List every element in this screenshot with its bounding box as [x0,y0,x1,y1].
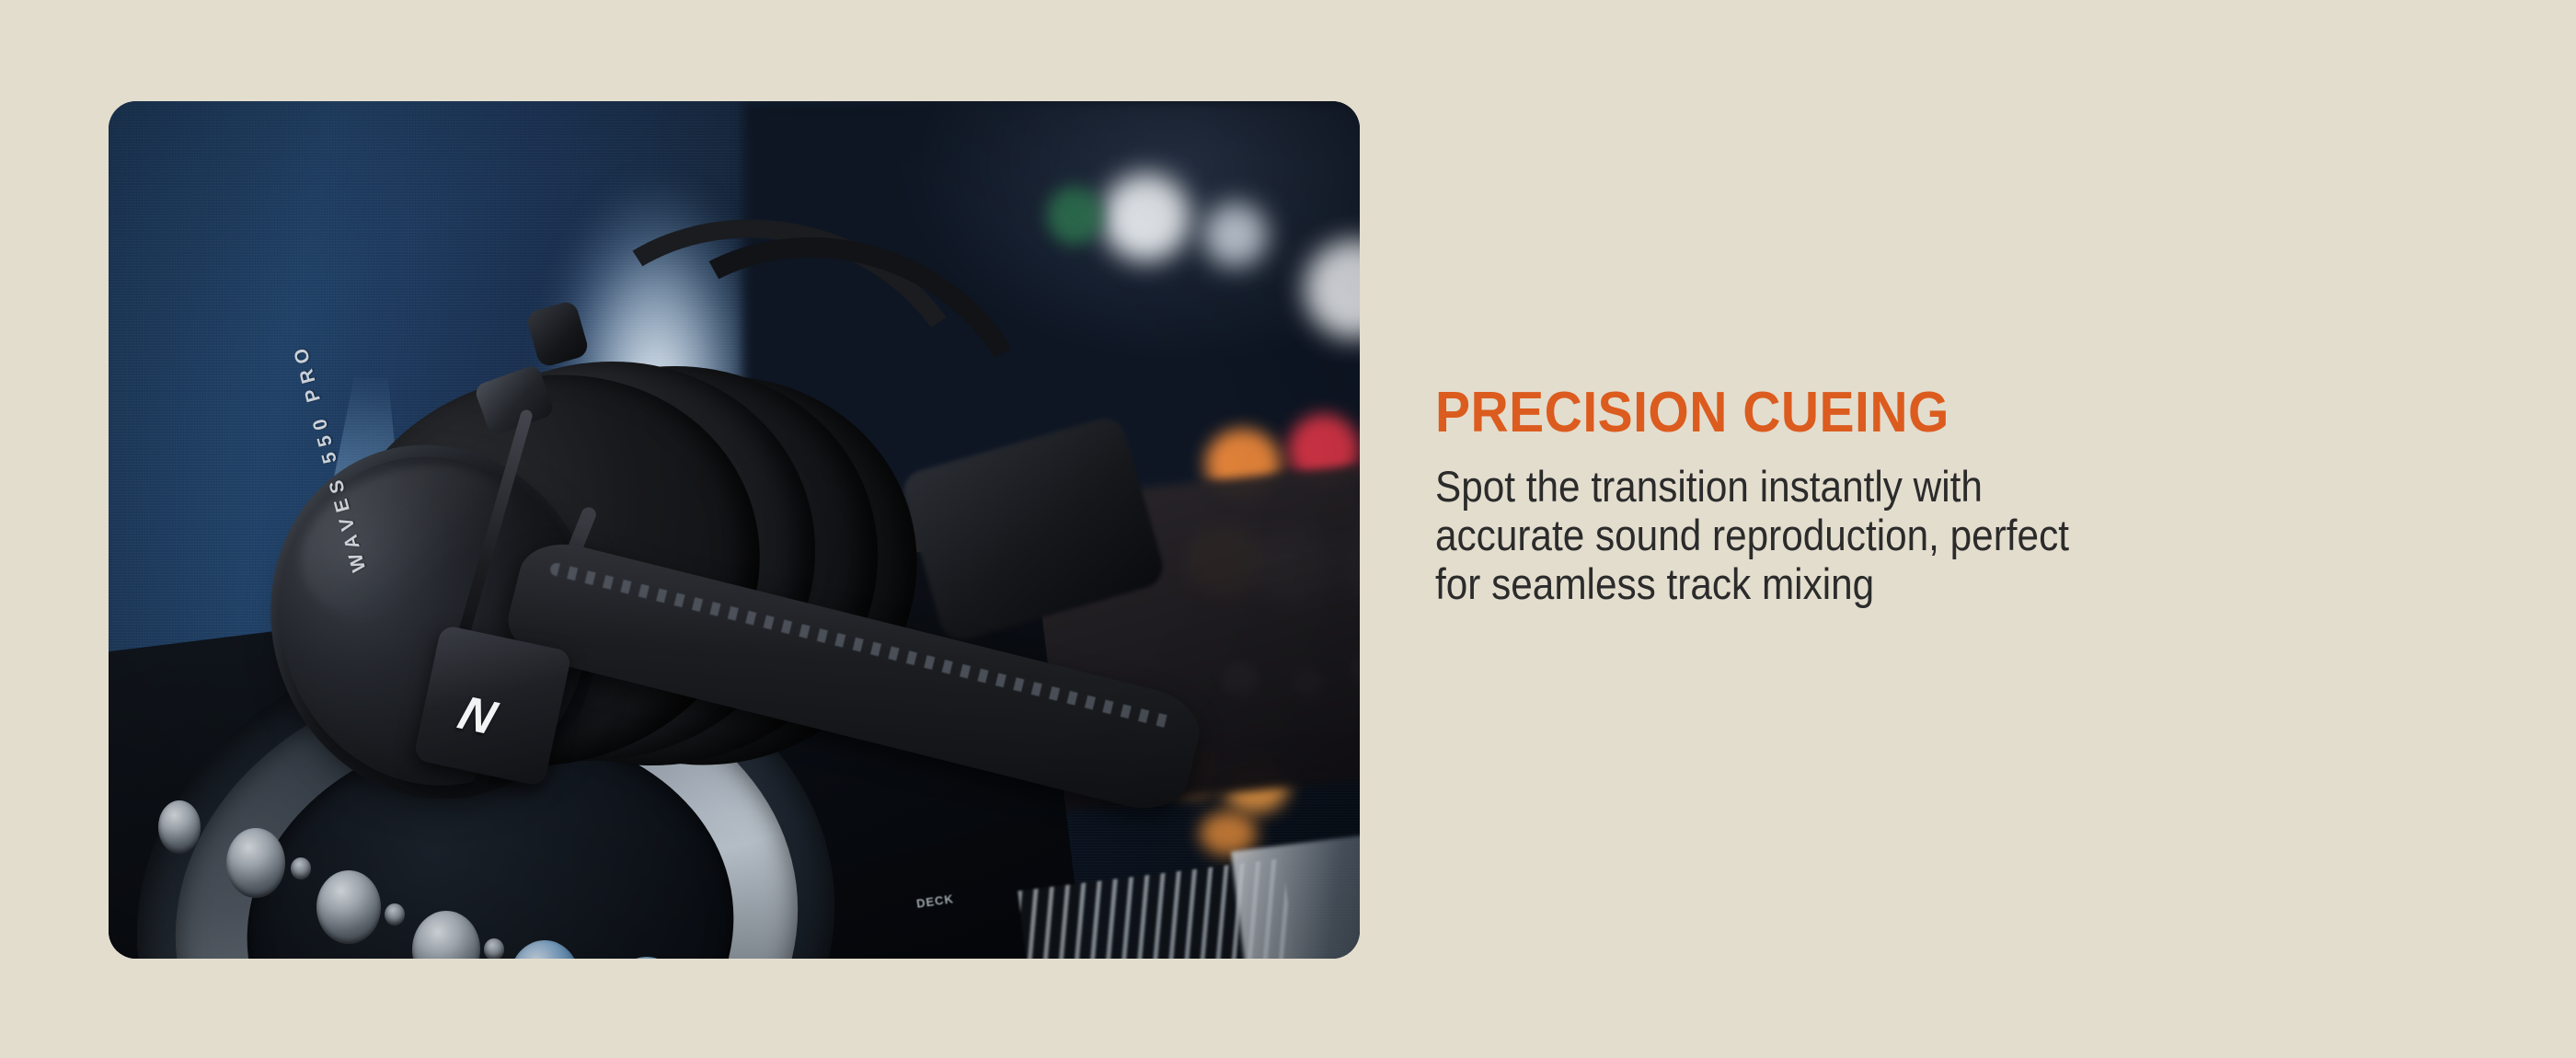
bokeh-light-white-1 [1102,173,1190,261]
jog-wheel-dimple [226,828,285,898]
jog-wheel-dimple [316,870,381,944]
bokeh-light-white-2 [1203,202,1268,267]
jog-wheel-dimple [484,938,504,959]
jog-wheel-dimple [291,857,311,880]
product-photo-card: WAVES 550 PRO N DECK CUE TIME TRACK [109,101,1360,959]
feature-description-line: for seamless track mixing [1435,559,2346,608]
product-photo: WAVES 550 PRO N DECK CUE TIME TRACK [109,101,1360,959]
feature-banner: WAVES 550 PRO N DECK CUE TIME TRACK PREC… [0,0,2576,1058]
jog-wheel-dimple [385,903,405,926]
feature-heading: PRECISION CUEING [1435,385,2366,442]
feature-description-line: Spot the transition instantly with [1435,462,2346,511]
bokeh-light-green [1047,186,1102,245]
feature-description-line: accurate sound reproduction, perfect [1435,511,2346,559]
jog-wheel-dimple [158,800,201,854]
feature-text-block: PRECISION CUEING Spot the transition ins… [1435,385,2447,608]
feature-description: Spot the transition instantly with accur… [1435,462,2346,608]
